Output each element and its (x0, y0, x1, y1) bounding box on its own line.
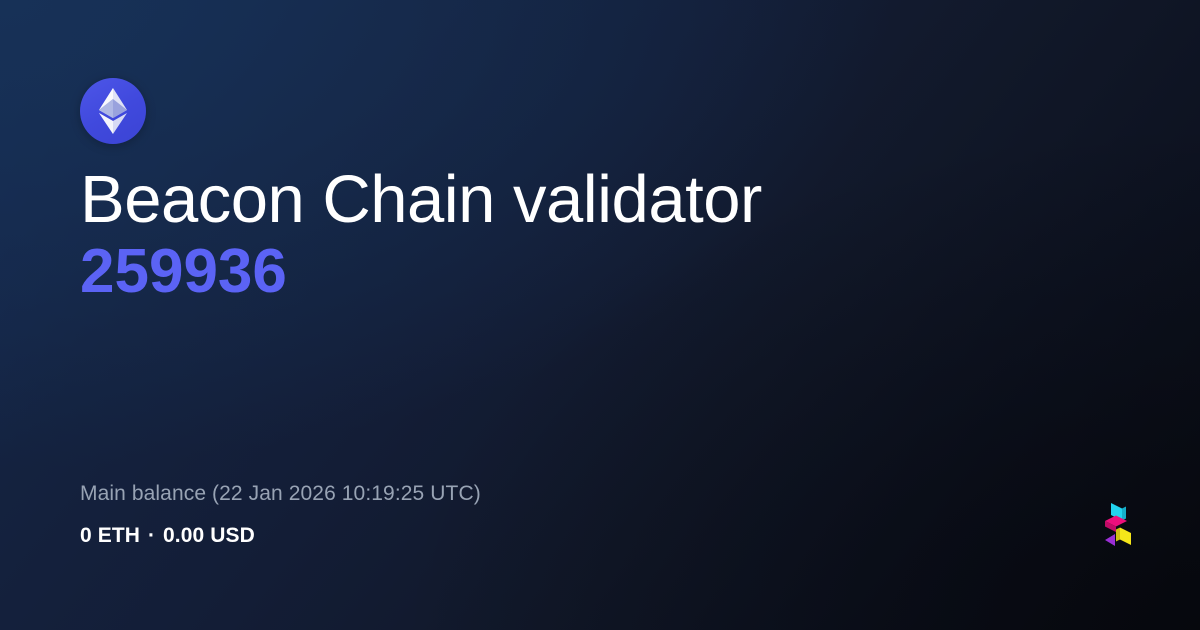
beaconchain-logo-icon (1100, 502, 1134, 552)
balance-eth: 0 ETH (80, 524, 140, 547)
validator-og-card: Beacon Chain validator 259936 Main balan… (0, 0, 1200, 630)
card-title: Beacon Chain validator (80, 166, 1120, 233)
balance-value: 0 ETH · 0.00 USD (80, 524, 481, 548)
balance-usd: 0.00 USD (163, 524, 255, 547)
balance-block: Main balance (22 Jan 2026 10:19:25 UTC) … (80, 482, 481, 548)
balance-label: Main balance (22 Jan 2026 10:19:25 UTC) (80, 482, 481, 506)
validator-index: 259936 (80, 241, 1120, 303)
ethereum-diamond-icon (80, 78, 146, 144)
balance-separator: · (146, 524, 157, 547)
page-title: Beacon Chain validator 259936 (80, 166, 1120, 303)
